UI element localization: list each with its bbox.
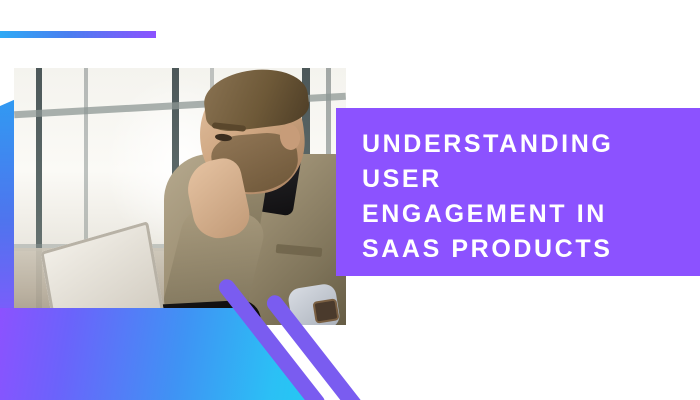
hero-photo xyxy=(14,68,346,325)
title-block: Understanding User Engagement in SaaS Pr… xyxy=(336,108,700,276)
photo-scene xyxy=(14,68,346,325)
blog-banner: Understanding User Engagement in SaaS Pr… xyxy=(0,0,700,400)
subject-wristwatch xyxy=(312,298,339,323)
top-gradient-rule xyxy=(0,31,156,38)
banner-title: Understanding User Engagement in SaaS Pr… xyxy=(362,127,692,267)
